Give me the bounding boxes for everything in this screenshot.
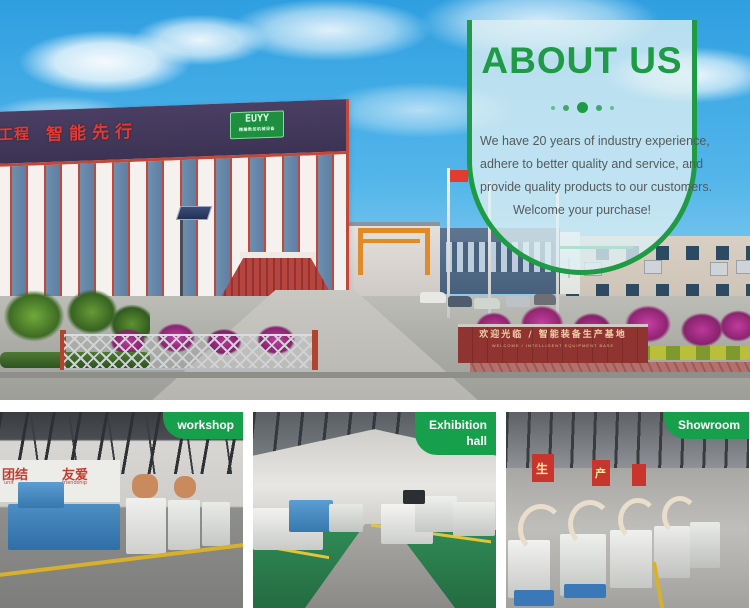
dust-hose — [568, 500, 612, 548]
ac-unit-icon — [710, 262, 728, 276]
about-us-badge: ABOUT US We have 20 years of industry ex… — [467, 20, 697, 275]
machine-base — [514, 590, 554, 606]
cnc-machine-head — [18, 482, 64, 508]
cnc-machine — [329, 504, 363, 532]
thumbnail-tag-exhibition-hall: Exhibition hall — [415, 412, 496, 455]
flag — [450, 170, 468, 182]
parked-car — [448, 296, 472, 307]
dot-icon — [551, 106, 555, 110]
entrance-sign-text: 欢迎光临 / 智能装备生产基地 — [458, 327, 648, 343]
thumbnail-tag-workshop: workshop — [163, 412, 243, 439]
description-line: Welcome your purchase! — [480, 199, 684, 222]
parked-car — [420, 292, 446, 303]
machine-base — [564, 584, 606, 598]
banner-cn-2: 产 — [595, 465, 606, 481]
dust-hose — [662, 496, 698, 536]
thumbnail-showroom[interactable]: 生 产 Showroom — [506, 412, 749, 608]
about-us-description: We have 20 years of industry experience,… — [480, 130, 684, 222]
ac-unit-icon — [736, 260, 750, 274]
dust-hose — [132, 474, 158, 498]
decorative-dots — [472, 102, 692, 113]
thumbnail-workshop[interactable]: 团结 友爱 unit friendship workshop — [0, 412, 243, 608]
company-logo-text: EUYY — [245, 113, 269, 125]
entrance-sign-subtext: WELCOME / INTELLIGENT EQUIPMENT BASE — [458, 343, 648, 348]
thumbnail-gallery: 团结 友爱 unit friendship workshop — [0, 412, 750, 608]
description-line: provide quality products to our customer… — [480, 176, 684, 199]
hero-factory-photo: 工程 智能先行 EUYY 精雕数控机械设备 — [0, 0, 750, 400]
building-sign-main: 智能先行 — [46, 117, 138, 145]
entrance-sign-wall: 欢迎光临 / 智能装备生产基地 WELCOME / INTELLIGENT EQ… — [458, 324, 648, 363]
thumbnail-tag-showroom: Showroom — [664, 412, 749, 439]
cnc-machine — [453, 502, 495, 536]
dot-icon — [610, 106, 614, 110]
gate-post — [312, 330, 318, 370]
dot-icon — [596, 105, 602, 111]
cnc-machine — [202, 502, 230, 546]
curb — [0, 372, 750, 378]
red-banner — [632, 464, 646, 486]
cnc-machine — [289, 500, 333, 532]
dust-hose — [518, 504, 564, 554]
description-line: We have 20 years of industry experience, — [480, 130, 684, 153]
cnc-machine — [168, 500, 200, 550]
company-logo: EUYY 精雕数控机械设备 — [230, 110, 284, 139]
wall-banner-en-1: unit — [4, 480, 14, 486]
retractable-gate — [64, 334, 314, 370]
ac-unit-icon — [644, 260, 662, 274]
cnc-machine — [690, 522, 720, 568]
dot-icon — [577, 102, 588, 113]
company-logo-sub: 精雕数控机械设备 — [231, 125, 283, 133]
cnc-machine — [8, 504, 120, 550]
dust-hose — [174, 476, 196, 498]
cnc-machine — [126, 498, 166, 554]
gantry-frame — [358, 228, 430, 275]
machine-monitor — [403, 490, 425, 504]
wall-banner-en-2: friendship — [62, 480, 87, 486]
dust-hose — [618, 498, 658, 542]
description-line: adhere to better quality and service, an… — [480, 153, 684, 176]
thumbnail-exhibition-hall[interactable]: Exhibition hall — [253, 412, 496, 608]
street-lamp — [180, 218, 183, 300]
building-sign-left: 工程 — [0, 123, 30, 145]
dot-icon — [563, 105, 569, 111]
banner-cn-1: 生 — [536, 460, 548, 477]
about-us-page: 工程 智能先行 EUYY 精雕数控机械设备 — [0, 0, 750, 608]
page-title: ABOUT US — [472, 40, 692, 82]
